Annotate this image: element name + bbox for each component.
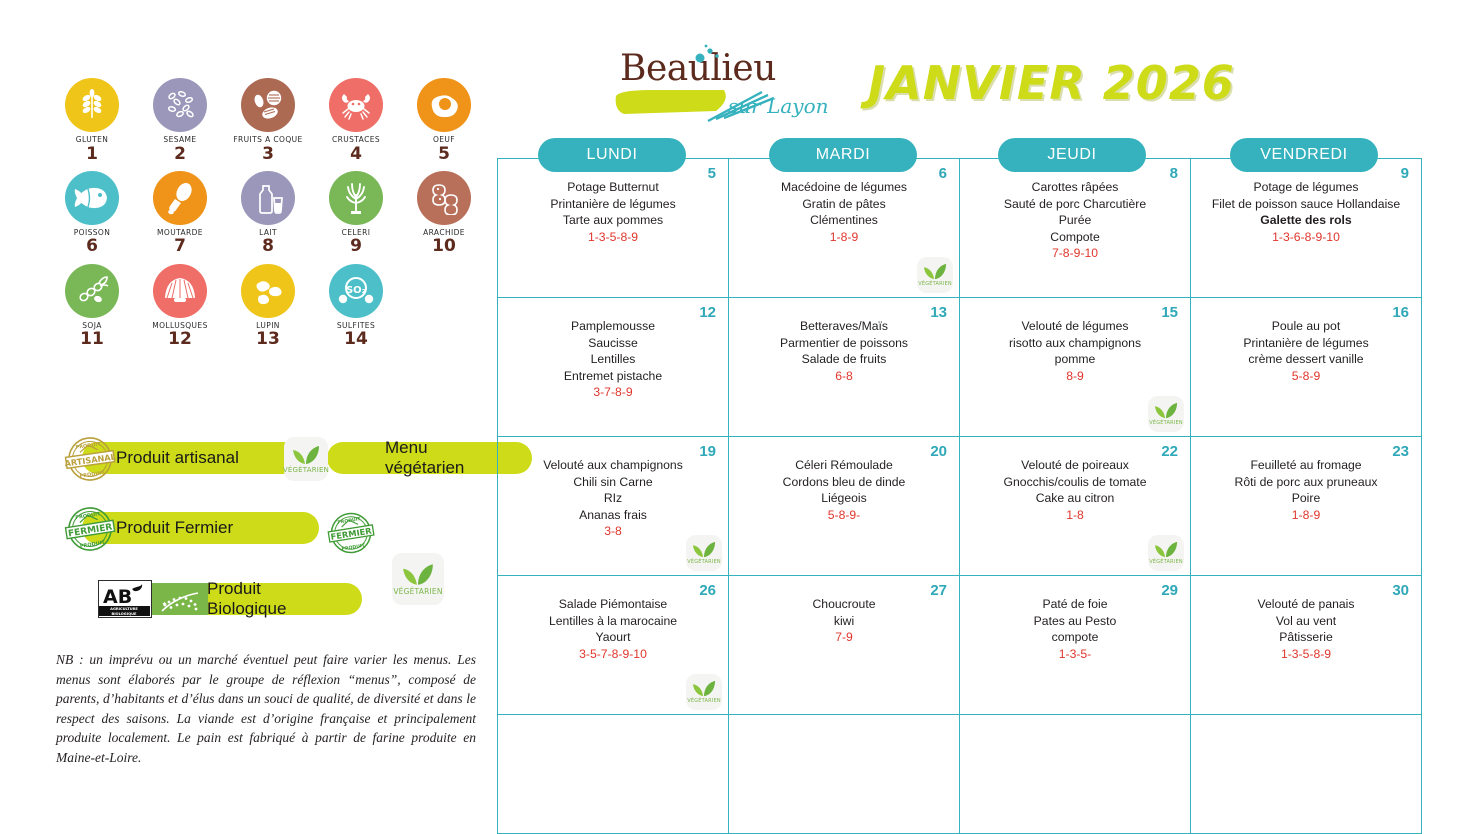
calendar-day-cell[interactable]: 16Poule au potPrintanière de légumescrèm… bbox=[1191, 298, 1422, 437]
menu-line: RIz bbox=[504, 490, 722, 507]
allergen-item-arachide: ARACHIDE10 bbox=[400, 171, 488, 258]
menu-line: Velouté de légumes bbox=[966, 318, 1184, 335]
menu-line: Pates au Pesto bbox=[966, 613, 1184, 630]
calendar-day-cell[interactable]: 23Feuilleté au fromageRôti de porc aux p… bbox=[1191, 437, 1422, 576]
pill-vegetarien-label: Menu végétarien bbox=[385, 438, 510, 478]
artisanal-stamp-icon: ARTISANAL PRODUIT PRODUIT bbox=[62, 435, 118, 488]
menu-line: Purée bbox=[966, 212, 1184, 229]
calendar-week-row: 19Velouté aux champignonsChili sin Carne… bbox=[498, 437, 1422, 576]
allergen-item-moutarde: MOUTARDE7 bbox=[136, 171, 224, 258]
menu-line: Ananas frais bbox=[504, 507, 722, 524]
beaulieu-logo: Beaulieu sur Layon bbox=[612, 46, 852, 124]
allergen-number: 12 bbox=[136, 329, 224, 350]
fermier-stamp-icon-standalone: FERMIER PRODUIT PRODUIT bbox=[325, 510, 377, 561]
calendar-day-cell[interactable]: 20Céleri RémouladeCordons bleu de dindeL… bbox=[729, 437, 960, 576]
menu-line: Carottes râpées bbox=[966, 179, 1184, 196]
vegetarien-badge-label: VÉGÉTARIEN bbox=[687, 559, 721, 565]
menu-items: Betteraves/MaïsParmentier de poissonsSal… bbox=[735, 306, 953, 385]
so2-icon: SO₂ bbox=[329, 264, 383, 318]
menu-line: Pâtisserie bbox=[1197, 629, 1415, 646]
menu-line: Liégeois bbox=[735, 490, 953, 507]
menu-line: Macédoine de légumes bbox=[735, 179, 953, 196]
menu-line: Poire bbox=[1197, 490, 1415, 507]
menu-line: Velouté de poireaux bbox=[966, 457, 1184, 474]
calendar-day-cell[interactable]: 13Betteraves/MaïsParmentier de poissonsS… bbox=[729, 298, 960, 437]
day-number: 9 bbox=[1401, 165, 1409, 182]
menu-line: Printanière de légumes bbox=[1197, 335, 1415, 352]
allergen-name: SESAME bbox=[136, 136, 224, 144]
vegetarien-badge-icon: VÉGÉTARIEN bbox=[1148, 396, 1184, 432]
vegetarien-badge-label: VÉGÉTARIEN bbox=[1149, 420, 1183, 426]
svg-text:PRODUIT: PRODUIT bbox=[80, 540, 106, 550]
allergen-codes: 1-3-5-8-9 bbox=[504, 229, 722, 246]
menu-line: Parmentier de poissons bbox=[735, 335, 953, 352]
product-legend: Produit artisanal ARTISANAL PRODUIT PROD… bbox=[52, 440, 502, 630]
menu-items: Céleri RémouladeCordons bleu de dindeLié… bbox=[735, 445, 953, 524]
calendar-day-cell[interactable] bbox=[498, 715, 729, 834]
day-header-mardi: MARDI bbox=[769, 138, 917, 172]
menu-line: Compote bbox=[966, 229, 1184, 246]
day-header-lundi: LUNDI bbox=[538, 138, 686, 172]
day-number: 22 bbox=[1161, 443, 1178, 460]
day-header-vendredi-label: VENDREDI bbox=[1260, 146, 1347, 164]
menu-line: Chili sin Carne bbox=[504, 474, 722, 491]
calendar-day-cell[interactable]: 27Choucroutekiwi7-9 bbox=[729, 576, 960, 715]
fermier-stamp-icon: FERMIER PRODUIT PRODUIT bbox=[62, 505, 118, 558]
calendar-day-cell[interactable]: 22Velouté de poireauxGnocchis/coulis de … bbox=[960, 437, 1191, 576]
day-header-jeudi: JEUDI bbox=[998, 138, 1146, 172]
allergen-name: SOJA bbox=[48, 322, 136, 330]
allergen-item-sesame: SESAME2 bbox=[136, 78, 224, 165]
allergen-number: 9 bbox=[312, 236, 400, 257]
menu-items: Velouté de panaisVol au ventPâtisserie1-… bbox=[1197, 584, 1415, 663]
menu-line: crème dessert vanille bbox=[1197, 351, 1415, 368]
allergen-item-poisson: POISSON6 bbox=[48, 171, 136, 258]
day-header-mardi-label: MARDI bbox=[816, 146, 871, 164]
allergen-item-crustaces: CRUSTACES4 bbox=[312, 78, 400, 165]
svg-text:PRODUIT: PRODUIT bbox=[79, 470, 105, 480]
pill-fermier-label: Produit Fermier bbox=[116, 518, 233, 538]
calendar-table: 5Potage ButternutPrintanière de légumesT… bbox=[497, 158, 1422, 834]
menu-line: Gratin de pâtes bbox=[735, 196, 953, 213]
menu-line: Lentilles à la marocaine bbox=[504, 613, 722, 630]
allergen-number: 8 bbox=[224, 236, 312, 257]
allergen-item-lait: LAIT8 bbox=[224, 171, 312, 258]
svg-text:FERMIER: FERMIER bbox=[68, 523, 114, 540]
menu-line: Yaourt bbox=[504, 629, 722, 646]
menu-line: Velouté de panais bbox=[1197, 596, 1415, 613]
menu-line: Sauté de porc Charcutière bbox=[966, 196, 1184, 213]
vegetarien-badge-icon-standalone: VÉGÉTARIEN bbox=[392, 553, 444, 605]
menu-items: Feuilleté au fromageRôti de porc aux pru… bbox=[1197, 445, 1415, 524]
allergen-codes: 7-9 bbox=[735, 629, 953, 646]
allergen-item-soja: SOJA11 bbox=[48, 264, 136, 351]
day-number: 29 bbox=[1161, 582, 1178, 599]
calendar-week-row bbox=[498, 715, 1422, 834]
svg-text:AGRICULTURE: AGRICULTURE bbox=[110, 607, 138, 611]
vegetarien-badge-icon: VÉGÉTARIEN bbox=[917, 257, 953, 293]
lupin-beans-icon bbox=[241, 264, 295, 318]
svg-text:BIOLOGIQUE: BIOLOGIQUE bbox=[111, 612, 137, 616]
menu-items: PamplemousseSaucisseLentillesEntremet pi… bbox=[504, 306, 722, 401]
allergen-number: 3 bbox=[224, 144, 312, 165]
mustard-bottle-icon bbox=[153, 171, 207, 225]
day-number: 19 bbox=[699, 443, 716, 460]
menu-line: Pamplemousse bbox=[504, 318, 722, 335]
day-header-jeudi-label: JEUDI bbox=[1047, 146, 1096, 164]
vegetarien-badge-icon: VÉGÉTARIEN bbox=[686, 674, 722, 710]
allergen-name: CELERI bbox=[312, 229, 400, 237]
shell-icon bbox=[153, 264, 207, 318]
menu-line: pomme bbox=[966, 351, 1184, 368]
allergen-number: 6 bbox=[48, 236, 136, 257]
allergen-number: 5 bbox=[400, 144, 488, 165]
pill-artisanal-label: Produit artisanal bbox=[116, 448, 239, 468]
crab-icon bbox=[329, 78, 383, 132]
menu-items: Carottes râpéesSauté de porc Charcutière… bbox=[966, 167, 1184, 262]
milk-bottle-icon bbox=[241, 171, 295, 225]
vegetarien-badge-icon: VÉGÉTARIEN bbox=[284, 437, 328, 481]
svg-text:AB: AB bbox=[103, 586, 132, 608]
menu-line: Saucisse bbox=[504, 335, 722, 352]
svg-text:FERMIER: FERMIER bbox=[330, 525, 373, 541]
menu-items: Salade PiémontaiseLentilles à la marocai… bbox=[504, 584, 722, 663]
menu-line: Potage de légumes bbox=[1197, 179, 1415, 196]
calendar-day-cell[interactable]: 29Paté de foiePates au Pestocompote1-3-5… bbox=[960, 576, 1191, 715]
nuts-icon bbox=[241, 78, 295, 132]
vegetarien-badge-label: VÉGÉTARIEN bbox=[918, 281, 952, 287]
soy-icon bbox=[65, 264, 119, 318]
menu-line: Lentilles bbox=[504, 351, 722, 368]
calendar-day-cell[interactable] bbox=[729, 715, 960, 834]
allergen-codes: 1-3-5- bbox=[966, 646, 1184, 663]
vegetarien-badge-icon: VÉGÉTARIEN bbox=[686, 535, 722, 571]
pill-biologique-label: Produit Biologique bbox=[207, 579, 340, 619]
svg-text:PRODUIT: PRODUIT bbox=[341, 543, 366, 553]
calendar-week-row: 26Salade PiémontaiseLentilles à la maroc… bbox=[498, 576, 1422, 715]
day-number: 16 bbox=[1392, 304, 1409, 321]
allergen-icon-grid: GLUTEN1 SESAME2 FRUITS A COQUE3 CRUSTACE… bbox=[48, 78, 488, 356]
logo-sub-text: sur Layon bbox=[728, 94, 829, 118]
allergen-codes: 5-8-9- bbox=[735, 507, 953, 524]
allergen-number: 10 bbox=[400, 236, 488, 257]
vegetarien-badge-label: VÉGÉTARIEN bbox=[283, 466, 329, 474]
menu-line: Choucroute bbox=[735, 596, 953, 613]
allergen-number: 14 bbox=[312, 329, 400, 350]
menu-line: compote bbox=[966, 629, 1184, 646]
menu-line: Cake au citron bbox=[966, 490, 1184, 507]
menu-items: Velouté de légumesrisotto aux champignon… bbox=[966, 306, 1184, 385]
menu-line: Clémentines bbox=[735, 212, 953, 229]
day-number: 27 bbox=[930, 582, 947, 599]
allergen-item-mollusques: MOLLUSQUES12 bbox=[136, 264, 224, 351]
menu-items: Paté de foiePates au Pestocompote1-3-5- bbox=[966, 584, 1184, 663]
allergen-item-gluten: GLUTEN1 bbox=[48, 78, 136, 165]
calendar-day-cell[interactable]: 19Velouté aux champignonsChili sin Carne… bbox=[498, 437, 729, 576]
menu-items: Velouté aux champignonsChili sin CarneRI… bbox=[504, 445, 722, 540]
menu-line: Céleri Rémoulade bbox=[735, 457, 953, 474]
allergen-name: FRUITS A COQUE bbox=[224, 136, 312, 144]
allergen-row: SOJA11 MOLLUSQUES12 LUPIN13 SO₂ SULFITES… bbox=[48, 264, 488, 351]
menu-line: Salade Piémontaise bbox=[504, 596, 722, 613]
allergen-number: 2 bbox=[136, 144, 224, 165]
allergen-codes: 6-8 bbox=[735, 368, 953, 385]
calendar-day-cell[interactable] bbox=[960, 715, 1191, 834]
day-number: 30 bbox=[1392, 582, 1409, 599]
calendar-week-row: 12PamplemousseSaucisseLentillesEntremet … bbox=[498, 298, 1422, 437]
allergen-name: CRUSTACES bbox=[312, 136, 400, 144]
allergen-codes: 1-3-6-8-9-10 bbox=[1197, 229, 1415, 246]
allergen-name: MOUTARDE bbox=[136, 229, 224, 237]
calendar-day-cell[interactable]: 12PamplemousseSaucisseLentillesEntremet … bbox=[498, 298, 729, 437]
egg-icon bbox=[417, 78, 471, 132]
celery-icon bbox=[329, 171, 383, 225]
allergen-name: ARACHIDE bbox=[400, 229, 488, 237]
menu-line: kiwi bbox=[735, 613, 953, 630]
allergen-name: LUPIN bbox=[224, 322, 312, 330]
fish-icon bbox=[65, 171, 119, 225]
logo-dots-icon bbox=[690, 44, 730, 66]
legend-panel: GLUTEN1 SESAME2 FRUITS A COQUE3 CRUSTACE… bbox=[0, 0, 497, 820]
allergen-name: OEUF bbox=[400, 136, 488, 144]
menu-line: Cordons bleu de dinde bbox=[735, 474, 953, 491]
svg-text:SO₂: SO₂ bbox=[346, 285, 366, 296]
day-number: 13 bbox=[930, 304, 947, 321]
menu-items: Poule au potPrintanière de légumescrème … bbox=[1197, 306, 1415, 385]
calendar-day-cell[interactable]: 5Potage ButternutPrintanière de légumesT… bbox=[498, 159, 729, 298]
allergen-name: SULFITES bbox=[312, 322, 400, 330]
menu-line: Salade de fruits bbox=[735, 351, 953, 368]
menu-line: Potage Butternut bbox=[504, 179, 722, 196]
vegetarien-badge-label-standalone: VÉGÉTARIEN bbox=[393, 587, 442, 596]
allergen-number: 13 bbox=[224, 329, 312, 350]
allergen-name: LAIT bbox=[224, 229, 312, 237]
vegetarien-badge-label: VÉGÉTARIEN bbox=[687, 698, 721, 704]
note-text: NB : un imprévu ou un marché éventuel pe… bbox=[56, 650, 476, 767]
day-number: 6 bbox=[939, 165, 947, 182]
menu-line: Velouté aux champignons bbox=[504, 457, 722, 474]
allergen-row: POISSON6 MOUTARDE7 LAIT8 CELERI9 ARACHID… bbox=[48, 171, 488, 258]
allergen-number: 11 bbox=[48, 329, 136, 350]
calendar-day-cell[interactable]: 6Macédoine de légumesGratin de pâtesClém… bbox=[729, 159, 960, 298]
allergen-codes: 3-5-7-8-9-10 bbox=[504, 646, 722, 663]
menu-items: Choucroutekiwi7-9 bbox=[735, 584, 953, 646]
calendar-day-cell[interactable]: 9Potage de légumesFilet de poisson sauce… bbox=[1191, 159, 1422, 298]
calendar-day-cell[interactable] bbox=[1191, 715, 1422, 834]
vegetarien-badge-label: VÉGÉTARIEN bbox=[1149, 559, 1183, 565]
menu-line: Entremet pistache bbox=[504, 368, 722, 385]
allergen-codes: 3-7-8-9 bbox=[504, 384, 722, 401]
menu-line: risotto aux champignons bbox=[966, 335, 1184, 352]
menu-items: Potage ButternutPrintanière de légumesTa… bbox=[504, 167, 722, 246]
allergen-codes: 1-8-9 bbox=[735, 229, 953, 246]
allergen-item-lupin: LUPIN13 bbox=[224, 264, 312, 351]
peanut-icon bbox=[417, 171, 471, 225]
menu-items: Macédoine de légumesGratin de pâtesCléme… bbox=[735, 167, 953, 246]
sesame-seeds-icon bbox=[153, 78, 207, 132]
allergen-item-fruits-a-coque: FRUITS A COQUE3 bbox=[224, 78, 312, 165]
day-number: 12 bbox=[699, 304, 716, 321]
menu-line: Galette des rols bbox=[1197, 212, 1415, 229]
menu-items: Potage de légumesFilet de poisson sauce … bbox=[1197, 167, 1415, 246]
allergen-codes: 1-8 bbox=[966, 507, 1184, 524]
menu-line: Feuilleté au fromage bbox=[1197, 457, 1415, 474]
menu-line: Vol au vent bbox=[1197, 613, 1415, 630]
allergen-codes: 1-3-5-8-9 bbox=[1197, 646, 1415, 663]
day-number: 8 bbox=[1170, 165, 1178, 182]
allergen-name: MOLLUSQUES bbox=[136, 322, 224, 330]
day-number: 5 bbox=[708, 165, 716, 182]
vegetarien-badge-icon: VÉGÉTARIEN bbox=[1148, 535, 1184, 571]
svg-text:ARTISANAL: ARTISANAL bbox=[64, 451, 116, 468]
allergen-codes: 1-8-9 bbox=[1197, 507, 1415, 524]
calendar-day-cell[interactable]: 26Salade PiémontaiseLentilles à la maroc… bbox=[498, 576, 729, 715]
menu-items: Velouté de poireauxGnocchis/coulis de to… bbox=[966, 445, 1184, 524]
menu-line: Poule au pot bbox=[1197, 318, 1415, 335]
day-number: 26 bbox=[699, 582, 716, 599]
day-header-vendredi: VENDREDI bbox=[1230, 138, 1378, 172]
menu-line: Betteraves/Maïs bbox=[735, 318, 953, 335]
day-number: 20 bbox=[930, 443, 947, 460]
allergen-name: POISSON bbox=[48, 229, 136, 237]
calendar-day-cell[interactable]: 8Carottes râpéesSauté de porc Charcutièr… bbox=[960, 159, 1191, 298]
menu-line: Printanière de légumes bbox=[504, 196, 722, 213]
menu-line: Filet de poisson sauce Hollandaise bbox=[1197, 196, 1415, 213]
menu-line: Rôti de porc aux pruneaux bbox=[1197, 474, 1415, 491]
allergen-item-celeri: CELERI9 bbox=[312, 171, 400, 258]
allergen-item-sulfites: SO₂ SULFITES14 bbox=[312, 264, 400, 351]
menu-calendar: LUNDI MARDI JEUDI VENDREDI 5Potage Butte… bbox=[497, 158, 1422, 772]
day-number: 23 bbox=[1392, 443, 1409, 460]
page-title: JANVIER 2026 bbox=[868, 56, 1235, 110]
allergen-codes: 8-9 bbox=[966, 368, 1184, 385]
calendar-day-cell[interactable]: 30Velouté de panaisVol au ventPâtisserie… bbox=[1191, 576, 1422, 715]
wheat-icon bbox=[65, 78, 119, 132]
ab-logo-icon: AB AGRICULTURE BIOLOGIQUE bbox=[98, 580, 152, 618]
allergen-codes: 5-8-9 bbox=[1197, 368, 1415, 385]
calendar-day-cell[interactable]: 15Velouté de légumesrisotto aux champign… bbox=[960, 298, 1191, 437]
calendar-week-row: 5Potage ButternutPrintanière de légumesT… bbox=[498, 159, 1422, 298]
menu-line: Gnocchis/coulis de tomate bbox=[966, 474, 1184, 491]
allergen-number: 4 bbox=[312, 144, 400, 165]
menu-line: Tarte aux pommes bbox=[504, 212, 722, 229]
allergen-number: 7 bbox=[136, 236, 224, 257]
day-number: 15 bbox=[1161, 304, 1178, 321]
allergen-item-oeuf: OEUF5 bbox=[400, 78, 488, 165]
menu-line: Paté de foie bbox=[966, 596, 1184, 613]
allergen-codes: 7-8-9-10 bbox=[966, 245, 1184, 262]
eu-organic-leaf-icon bbox=[152, 583, 208, 615]
day-header-lundi-label: LUNDI bbox=[586, 146, 637, 164]
allergen-name: GLUTEN bbox=[48, 136, 136, 144]
allergen-number: 1 bbox=[48, 144, 136, 165]
allergen-row: GLUTEN1 SESAME2 FRUITS A COQUE3 CRUSTACE… bbox=[48, 78, 488, 165]
